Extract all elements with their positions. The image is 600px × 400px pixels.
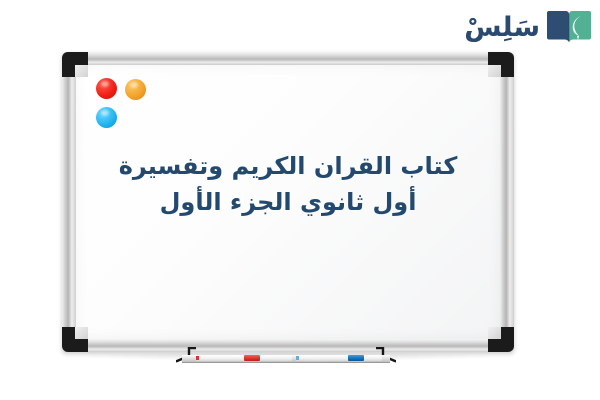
blue-marker-cap [348, 355, 364, 361]
magnet-gloss [101, 81, 110, 88]
brand-logo: سَلِسْ [464, 4, 592, 48]
corner-bracket-top-left [62, 52, 88, 77]
board-title-line-1: كتاب القران الكريم وتفسيرة [82, 148, 494, 184]
corner-bracket-bottom-right [488, 327, 514, 352]
blue-marker-tip [296, 356, 299, 360]
red-magnet[interactable] [96, 78, 117, 99]
red-marker-cap [244, 355, 260, 361]
corner-bracket-bottom-left [62, 327, 88, 352]
magnet-gloss [101, 110, 110, 117]
red-marker[interactable] [196, 355, 292, 361]
marker-tray [176, 347, 396, 369]
blue-magnet[interactable] [96, 107, 117, 128]
red-marker-tip [196, 356, 199, 360]
open-book-icon [546, 6, 592, 46]
board-title-line-2: أول ثانوي الجزء الأول [82, 184, 494, 220]
frame-right-rail [500, 52, 514, 352]
blue-marker[interactable] [296, 355, 382, 361]
corner-bracket-top-right [488, 52, 514, 77]
whiteboard[interactable]: كتاب القران الكريم وتفسيرة أول ثانوي الج… [62, 52, 514, 352]
frame-left-rail [62, 52, 76, 352]
magnet-gloss [130, 82, 139, 89]
magnet-group [96, 78, 170, 138]
board-title: كتاب القران الكريم وتفسيرة أول ثانوي الج… [82, 148, 494, 221]
brand-name: سَلِسْ [464, 14, 540, 41]
orange-magnet[interactable] [125, 79, 146, 100]
frame-top-rail [62, 52, 514, 65]
